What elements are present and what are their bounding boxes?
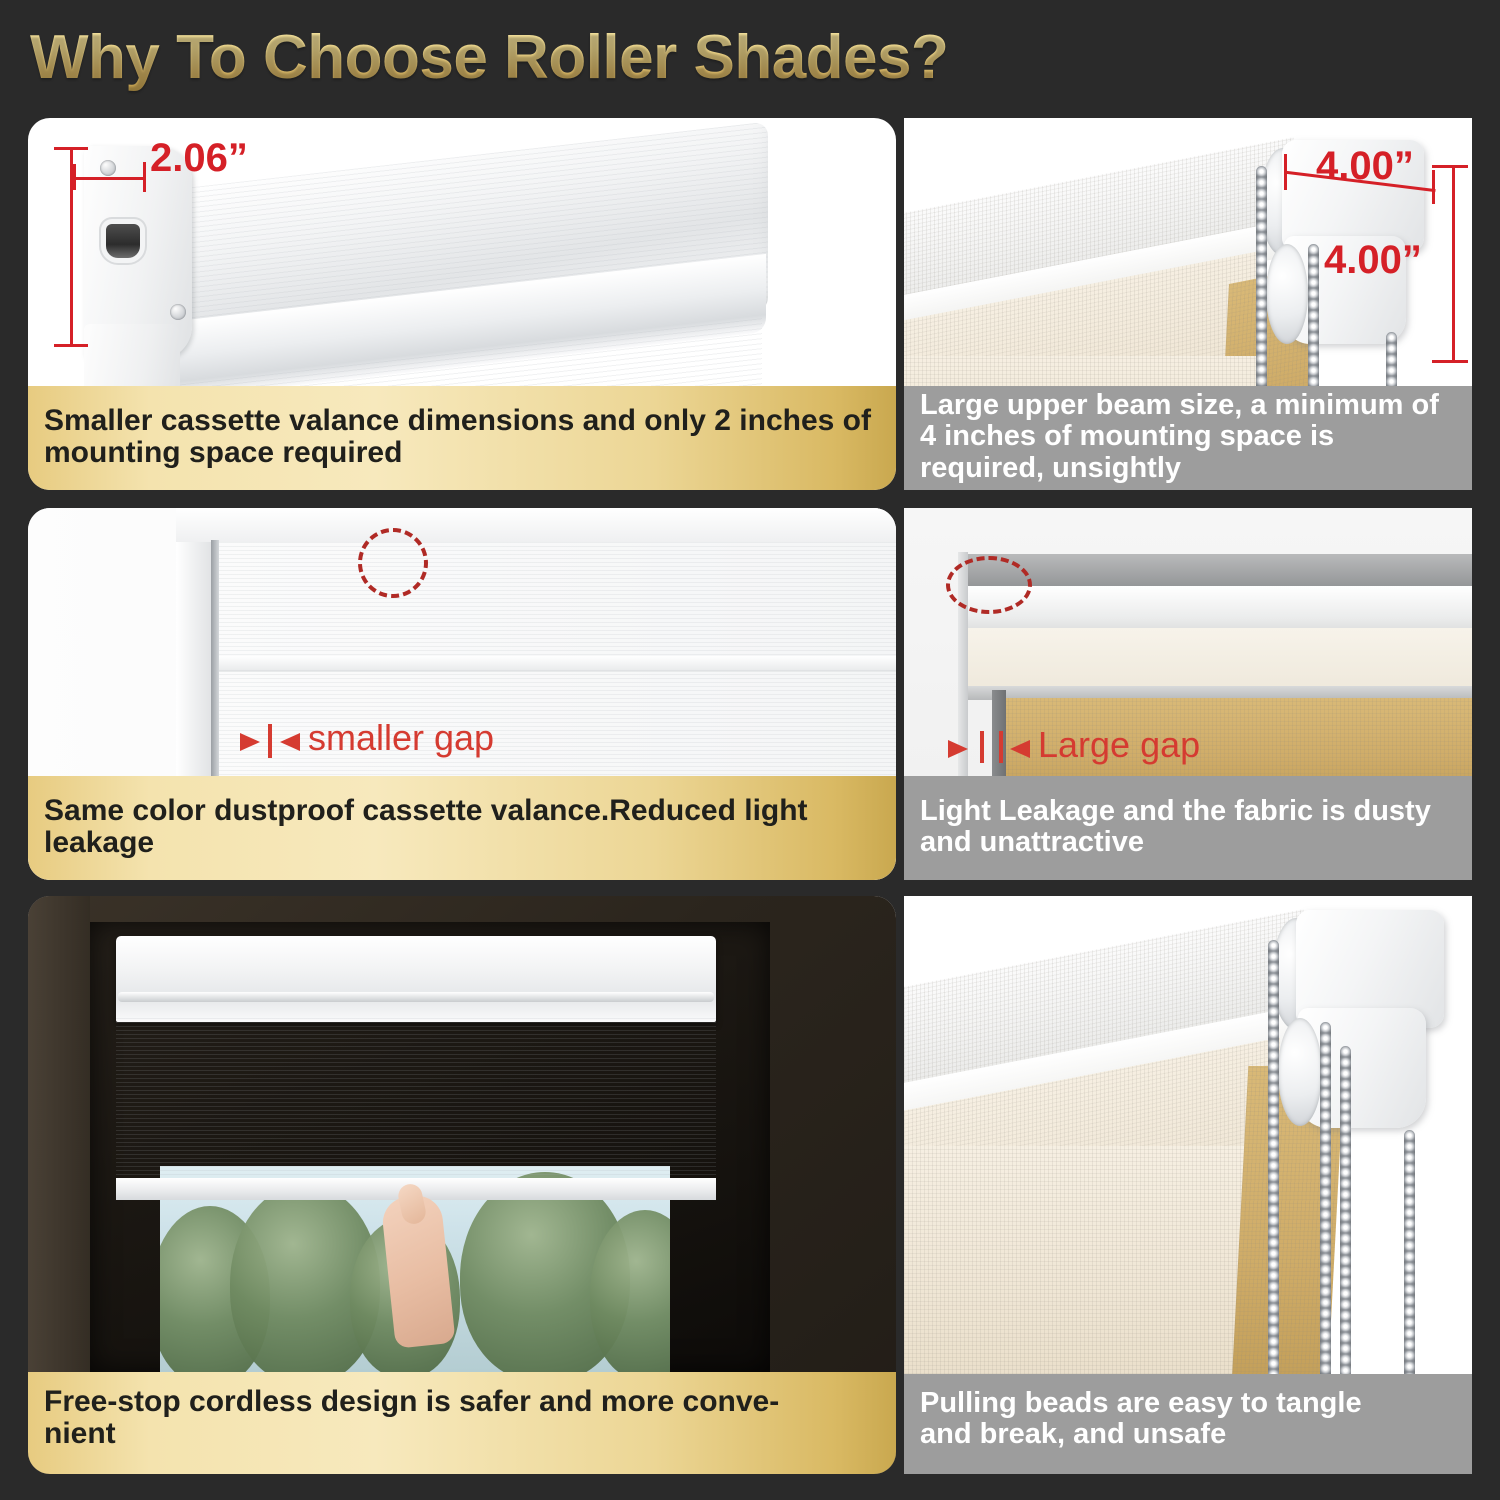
roller-end-cap-lower — [1266, 244, 1308, 344]
gap-arrow-left — [240, 733, 260, 751]
bead-chain-mid — [1320, 1022, 1331, 1390]
dimension-tick-beam-left — [1284, 154, 1287, 190]
panel-caption: Same color dustproof cassette valance.Re… — [28, 776, 896, 880]
dimension-tick-width-right — [143, 162, 146, 192]
gap-arrow-left — [948, 740, 968, 758]
bead-chain-mid2 — [1340, 1046, 1351, 1390]
dimension-tick-beam-bottom — [1432, 360, 1468, 363]
panel-smaller-gap: smaller gap Same color dustproof cassett… — [28, 508, 896, 880]
panel-caption: Large upper beam size, a minimum of 4 in… — [904, 386, 1472, 490]
gap-highlight-circle — [358, 528, 428, 598]
gap-tick — [268, 724, 272, 758]
panel-caption: Light Leakage and the fabric is dusty an… — [904, 776, 1472, 880]
dimension-line-width — [74, 177, 146, 180]
roller-end-cap-lower — [1278, 1018, 1322, 1126]
dimension-tick-height-bottom — [54, 344, 88, 347]
gap-arrow-right — [1010, 740, 1030, 758]
gap-annotation-label: Large gap — [1038, 724, 1200, 766]
gap-arrow-right — [280, 733, 300, 751]
panel-caption-line1: Pulling beads are easy to tangle — [920, 1388, 1456, 1419]
panel-caption-line2: nient — [44, 1418, 880, 1450]
bead-chain-left — [1268, 940, 1279, 1390]
infographic-page: Why To Choose Roller Shades? 2.06” 5.49”… — [0, 0, 1500, 1500]
gap-tick-2 — [999, 731, 1003, 763]
gap-highlight-circle — [946, 556, 1032, 614]
panel-caption: Free-stop cordless design is safer and m… — [28, 1372, 896, 1474]
panel-pulling-beads: Pulling beads are easy to tangle and bre… — [904, 896, 1472, 1474]
dimension-tick-width-left — [73, 164, 76, 190]
panel-caption-line2: and break, and unsafe — [920, 1419, 1456, 1450]
panel-smaller-cassette: 2.06” 5.49” Smaller cassette valance dim… — [28, 118, 896, 490]
dimension-line-height — [70, 148, 73, 346]
panel-large-gap: Large gap Light Leakage and the fabric i… — [904, 508, 1472, 880]
dimension-tick-height-top — [54, 147, 88, 150]
dimension-label-beam-height: 4.00” — [1324, 238, 1422, 283]
bead-chain-right — [1404, 1130, 1415, 1390]
dimension-tick-beam-top — [1432, 165, 1468, 168]
dimension-line-beam-height — [1452, 166, 1455, 362]
shade-fabric — [116, 1018, 716, 1186]
gap-annotation-label: smaller gap — [308, 717, 494, 759]
panel-caption: Smaller cassette valance dimensions and … — [28, 386, 896, 490]
gap-tick-1 — [980, 731, 984, 763]
panel-caption: Pulling beads are easy to tangle and bre… — [904, 1374, 1472, 1474]
panel-large-upper-beam: 4.00” 4.00” Large upper beam size, a min… — [904, 118, 1472, 490]
dimension-tick-beam-right — [1432, 170, 1435, 204]
cassette-headrail — [116, 936, 716, 1022]
dimension-label-width: 2.06” — [150, 136, 248, 181]
panel-cordless-design: Free-stop cordless design is safer and m… — [28, 896, 896, 1474]
panel-caption-line1: Free-stop cordless design is safer and m… — [44, 1386, 880, 1418]
page-title: Why To Choose Roller Shades? — [30, 22, 948, 93]
